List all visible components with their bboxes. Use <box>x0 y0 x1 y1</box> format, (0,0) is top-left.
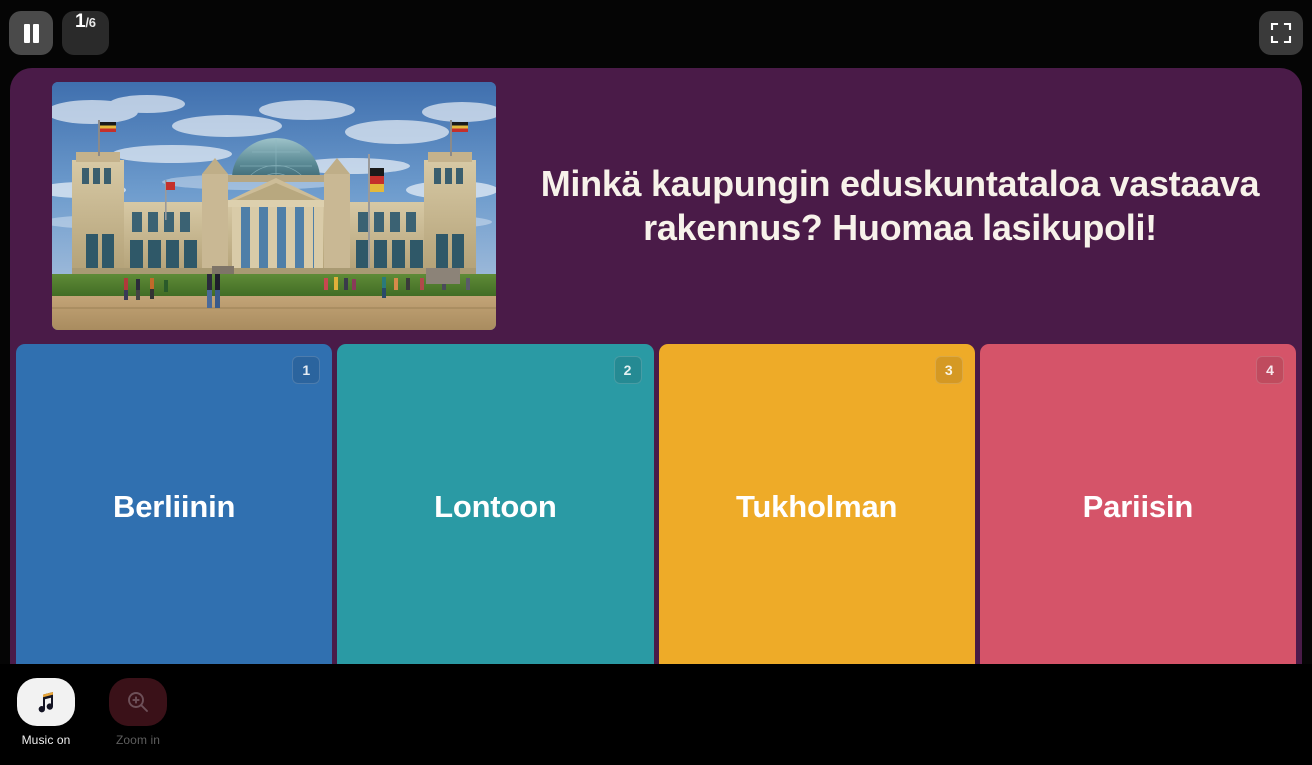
bottom-toolbar: Music on Zoom in <box>0 664 1312 765</box>
answer-label: Pariisin <box>1067 489 1209 525</box>
answer-number-badge: 3 <box>935 356 963 384</box>
pause-button[interactable] <box>9 11 53 55</box>
quiz-screen: 1/6 <box>0 0 1312 765</box>
top-bar: 1/6 <box>0 0 1312 68</box>
zoom-in-label: Zoom in <box>116 733 160 747</box>
answer-number-badge: 2 <box>614 356 642 384</box>
question-counter-total: /6 <box>85 15 95 30</box>
reichstag-building-photo <box>52 82 496 330</box>
answer-options: 1 Berliinin 2 Lontoon 3 Tukholman 4 Pari… <box>10 344 1302 664</box>
music-note-icon <box>33 689 59 715</box>
pause-icon <box>23 24 40 43</box>
question-counter[interactable]: 1/6 <box>62 11 109 55</box>
answer-label: Berliinin <box>97 489 251 525</box>
question-row: Minkä kaupungin eduskuntataloa vastaava … <box>10 68 1302 333</box>
answer-number-badge: 1 <box>292 356 320 384</box>
answer-number-badge: 4 <box>1256 356 1284 384</box>
answer-card-1[interactable]: 1 Berliinin <box>16 344 332 664</box>
music-toggle-label: Music on <box>22 733 71 747</box>
fullscreen-button[interactable] <box>1259 11 1303 55</box>
answer-card-3[interactable]: 3 Tukholman <box>659 344 975 664</box>
question-text: Minkä kaupungin eduskuntataloa vastaava … <box>530 82 1270 330</box>
quiz-panel: Minkä kaupungin eduskuntataloa vastaava … <box>10 68 1302 664</box>
answer-label: Tukholman <box>720 489 913 525</box>
answer-label: Lontoon <box>418 489 573 525</box>
music-icon-wrap <box>17 678 75 726</box>
magnifier-plus-icon <box>125 689 151 715</box>
question-counter-current: 1 <box>75 11 85 33</box>
zoom-in-button[interactable]: Zoom in <box>92 678 184 747</box>
question-image <box>52 82 496 330</box>
answer-card-2[interactable]: 2 Lontoon <box>337 344 653 664</box>
music-toggle-button[interactable]: Music on <box>0 678 92 747</box>
zoom-icon-wrap <box>109 678 167 726</box>
fullscreen-icon <box>1270 22 1292 44</box>
answer-card-4[interactable]: 4 Pariisin <box>980 344 1296 664</box>
